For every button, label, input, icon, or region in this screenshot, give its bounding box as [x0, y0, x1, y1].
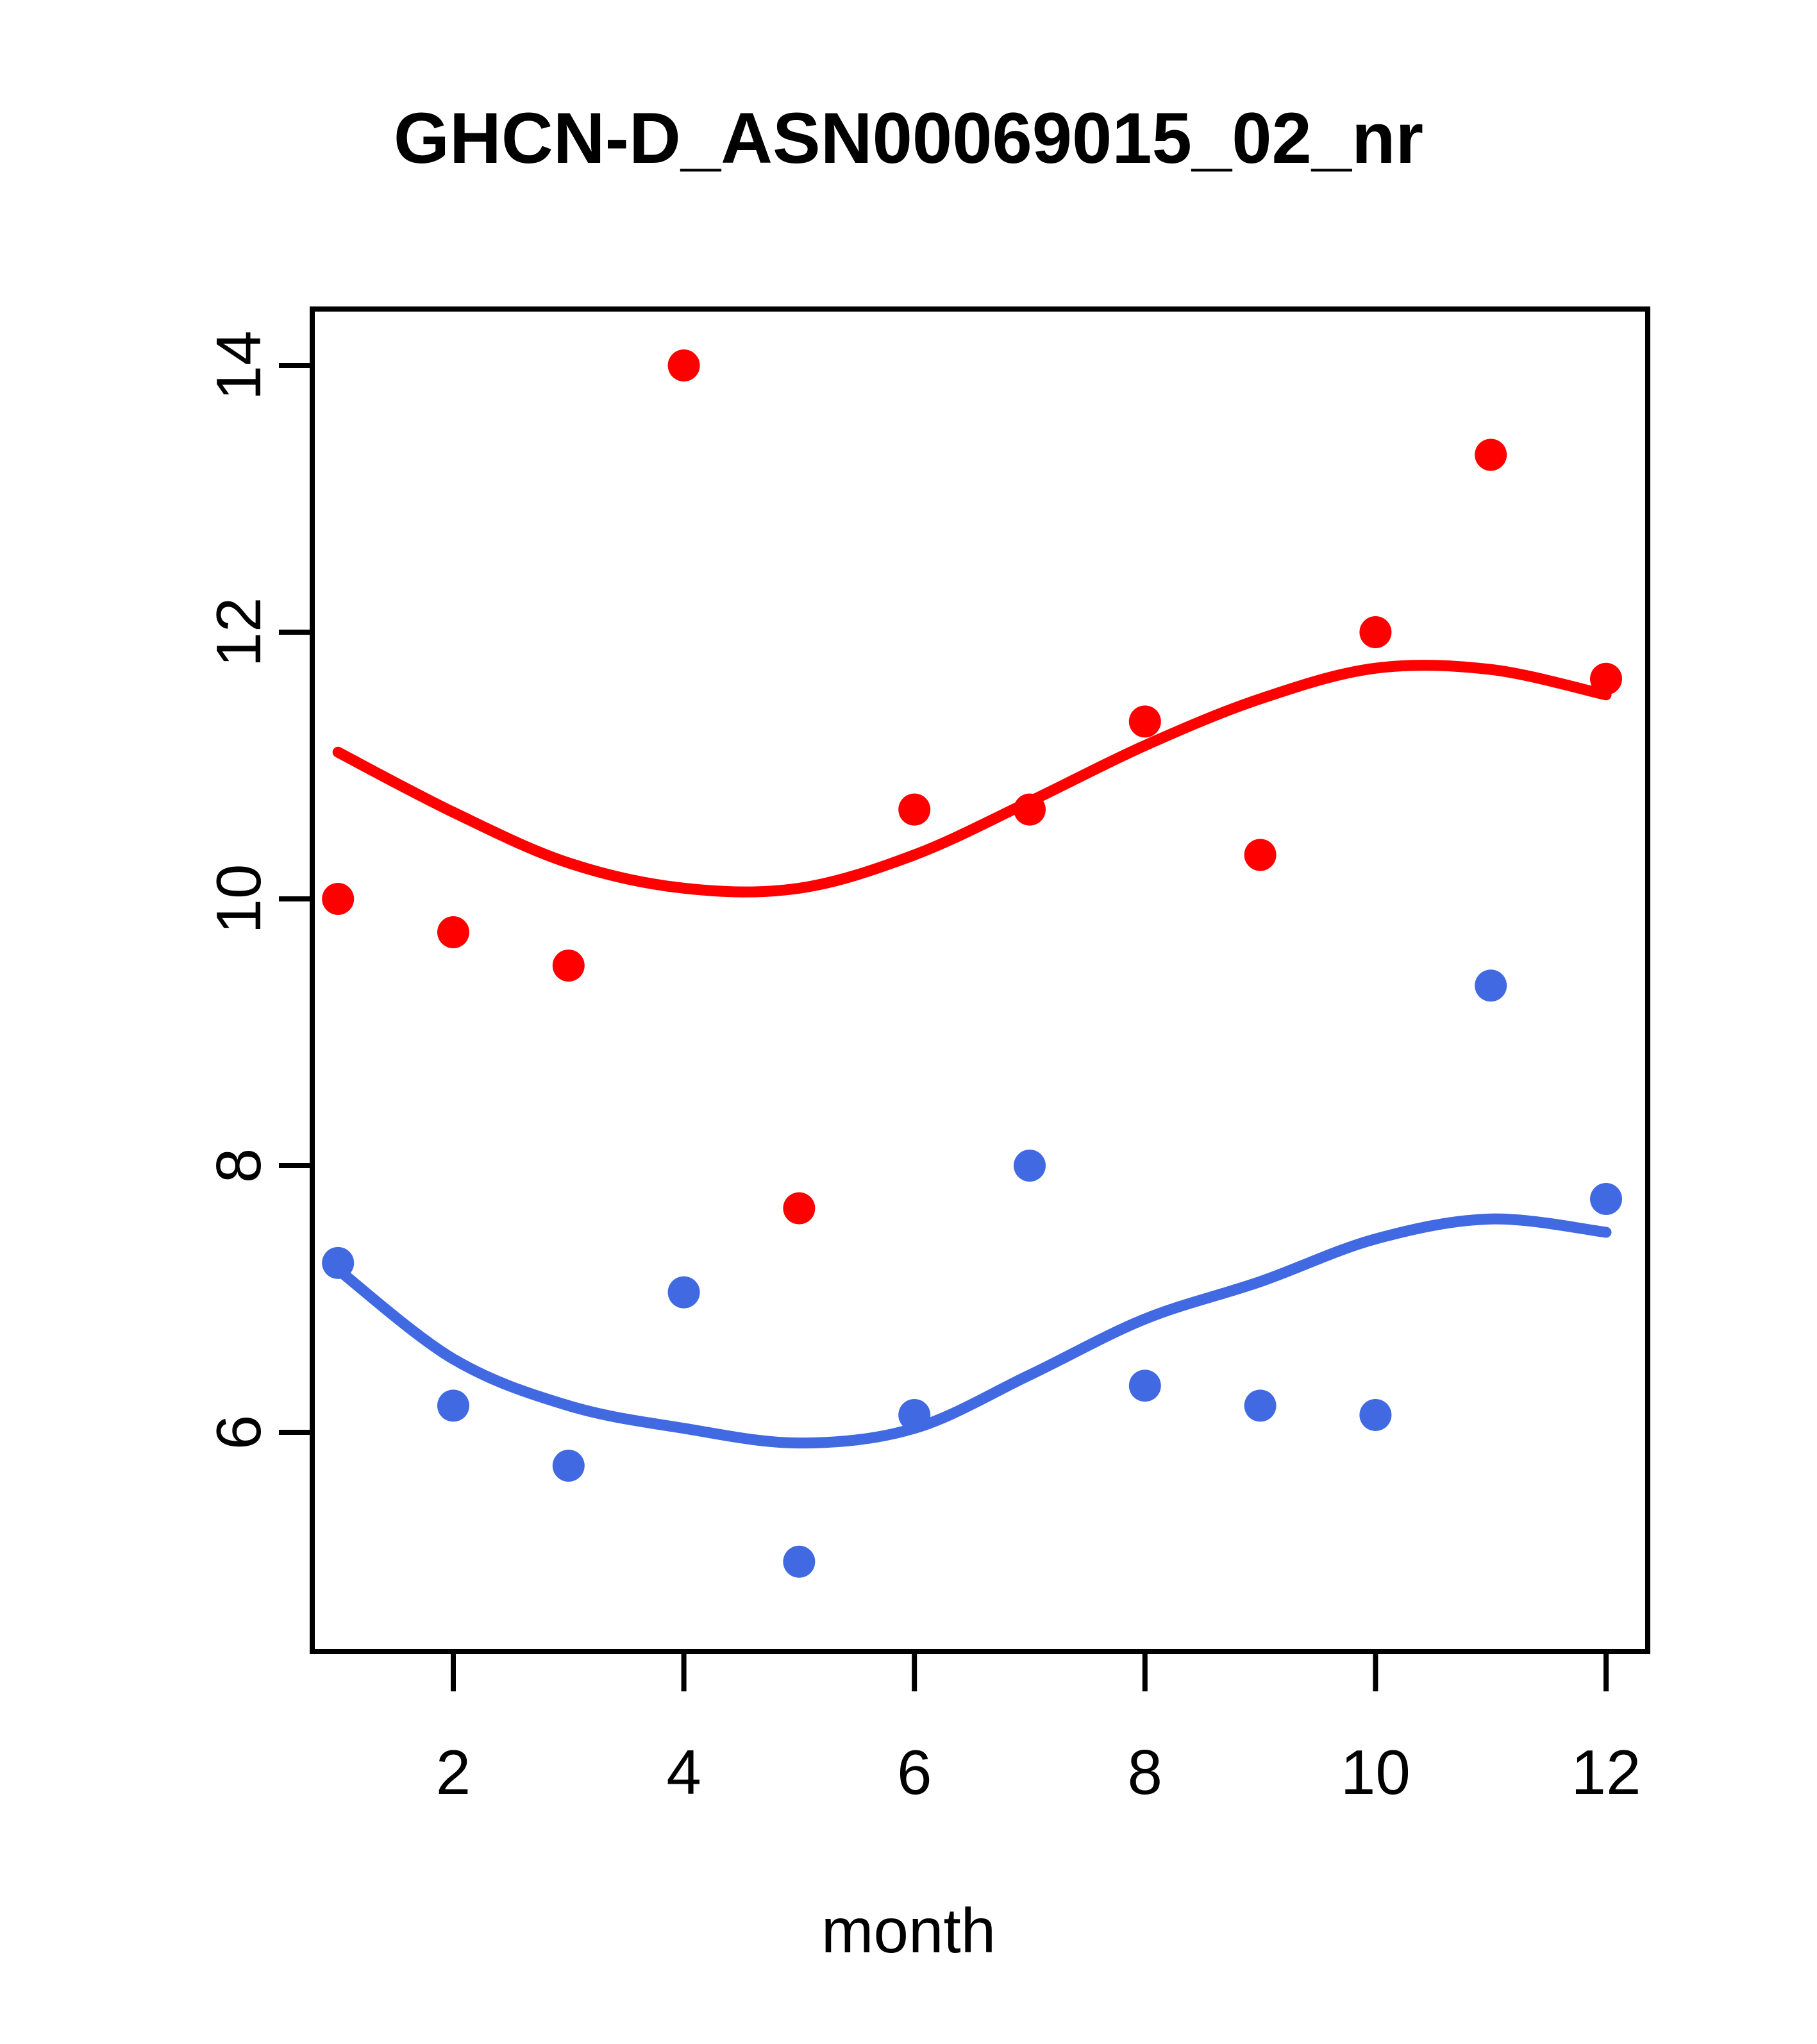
x-axis-tick-label: 6 — [897, 1737, 932, 1807]
y-axis-tick-label: 6 — [203, 1415, 274, 1450]
data-point — [322, 883, 354, 915]
x-axis-tick-label: 10 — [1341, 1737, 1411, 1807]
y-axis-tick-label: 8 — [203, 1148, 274, 1184]
x-axis-tick-label: 8 — [1128, 1737, 1163, 1807]
data-point — [1359, 1399, 1391, 1431]
y-axis-tick-label: 12 — [203, 597, 274, 667]
data-point — [668, 349, 700, 381]
point-group-lower-blue-points — [322, 969, 1622, 1578]
x-axis-tick-label: 12 — [1571, 1737, 1641, 1807]
trend-line-upper-red-smooth — [338, 666, 1606, 892]
scatter-plot: 6810121424681012 — [0, 0, 1817, 2044]
data-point — [437, 916, 469, 948]
data-point — [437, 1389, 469, 1421]
data-point — [1244, 839, 1277, 871]
y-axis-tick-label: 14 — [203, 330, 274, 400]
data-point — [1590, 1183, 1622, 1215]
data-point — [1129, 1370, 1161, 1402]
point-group-upper-red-points — [322, 349, 1622, 1225]
data-point — [1475, 969, 1507, 1001]
data-point — [553, 950, 585, 982]
chart-figure: GHCN-D_ASN00069015_02_nr 681012142468101… — [0, 0, 1817, 2044]
y-axis-tick-label: 10 — [203, 864, 274, 934]
plot-frame — [312, 309, 1648, 1652]
data-point — [783, 1546, 815, 1578]
data-point — [1359, 616, 1391, 648]
data-point — [1475, 439, 1507, 471]
data-point — [898, 794, 930, 826]
data-point — [1129, 705, 1161, 737]
trend-line-lower-blue-smooth — [338, 1219, 1606, 1443]
data-point — [783, 1193, 815, 1225]
x-axis-tick-label: 4 — [666, 1737, 701, 1807]
data-point — [668, 1277, 700, 1309]
data-point — [1244, 1389, 1277, 1421]
data-point — [553, 1450, 585, 1482]
x-axis-tick-label: 2 — [436, 1737, 471, 1807]
data-point — [1014, 1150, 1046, 1182]
x-axis-label: month — [0, 1899, 1817, 1962]
